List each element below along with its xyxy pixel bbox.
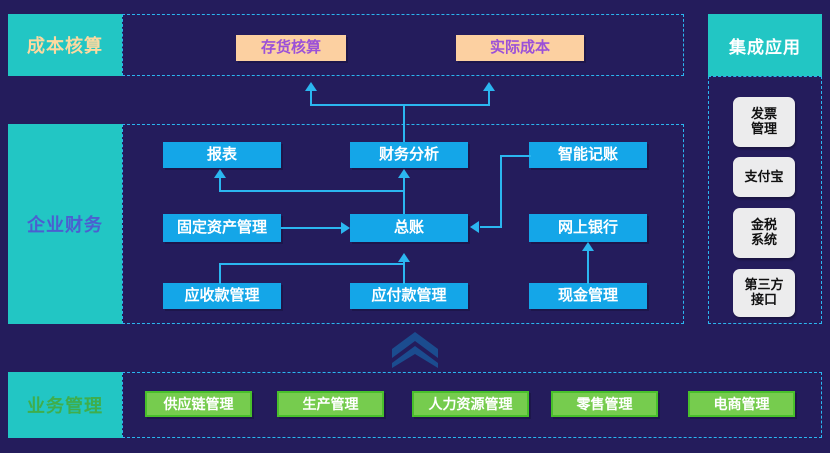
connector-smart-bookkeeping-to-ledger	[480, 226, 502, 228]
arrow-up-payable-to-general-ledger	[398, 253, 410, 262]
box-actual-cost-label: 实际成本	[490, 39, 550, 56]
band-label-integrated-apps-text: 集成应用	[729, 33, 801, 58]
box-inventory-accounting-label: 存货核算	[261, 39, 321, 56]
band-label-business-management-text: 业务管理	[27, 392, 103, 418]
box-accounts-receivable-label: 应收款管理	[184, 287, 259, 304]
connector-receivable-riser	[219, 264, 221, 284]
box-general-ledger[interactable]: 总账	[350, 214, 468, 242]
box-supply-chain-management[interactable]: 供应链管理	[145, 391, 252, 417]
box-inventory-accounting[interactable]: 存货核算	[236, 35, 346, 61]
band-label-integrated-apps: 集成应用	[708, 14, 822, 76]
box-cash-management-label: 现金管理	[558, 287, 618, 304]
box-supply-chain-management-label: 供应链管理	[164, 396, 234, 412]
app-button-third-party-interface-line1: 第三方	[744, 278, 783, 293]
band-label-cost-accounting: 成本核算	[8, 14, 122, 76]
band-label-business-management: 业务管理	[8, 372, 122, 438]
box-retail-management-label: 零售管理	[577, 396, 633, 412]
connector-receivable-bar	[219, 263, 405, 265]
connector-smart-bookkeeping-bar	[500, 155, 531, 157]
connector-smart-bookkeeping-drop	[500, 155, 502, 228]
arrow-right-to-general-ledger	[341, 222, 350, 234]
connector-ledger-to-analysis-stem	[403, 190, 405, 214]
box-reports-label: 报表	[207, 146, 237, 163]
box-ecommerce-management[interactable]: 电商管理	[688, 391, 795, 417]
arrow-up-to-inventory-accounting	[305, 82, 317, 91]
app-button-golden-tax-system-line1: 金税	[751, 218, 777, 233]
app-button-third-party-interface-line2: 接口	[751, 293, 777, 308]
connector-to-inventory-riser	[310, 90, 312, 106]
app-button-invoice-management-line1: 发票	[751, 107, 777, 122]
app-button-third-party-interface[interactable]: 第三方 接口	[733, 269, 795, 317]
box-retail-management[interactable]: 零售管理	[551, 391, 658, 417]
box-accounts-payable[interactable]: 应付款管理	[350, 283, 468, 309]
box-online-banking-label: 网上银行	[558, 219, 618, 236]
connector-ledger-to-reports-bar	[219, 190, 405, 192]
connector-analysis-bar	[311, 104, 490, 106]
box-production-management[interactable]: 生产管理	[277, 391, 384, 417]
band-label-cost-accounting-text: 成本核算	[27, 32, 103, 58]
panel-cost-accounting	[122, 14, 684, 76]
box-accounts-payable-label: 应付款管理	[371, 287, 446, 304]
box-accounts-receivable[interactable]: 应收款管理	[163, 283, 281, 309]
arrow-left-to-general-ledger	[470, 221, 479, 233]
app-button-invoice-management-line2: 管理	[751, 122, 777, 137]
chevron-up-icon	[392, 332, 438, 368]
arrow-up-to-reports	[214, 169, 226, 178]
connector-to-reports-riser	[219, 178, 221, 192]
band-label-enterprise-finance-text: 企业财务	[27, 211, 103, 237]
box-production-management-label: 生产管理	[303, 396, 359, 412]
box-online-banking[interactable]: 网上银行	[529, 214, 647, 242]
box-financial-analysis-label: 财务分析	[379, 146, 439, 163]
connector-payable-to-ledger	[403, 262, 405, 284]
app-button-golden-tax-system[interactable]: 金税 系统	[733, 208, 795, 258]
connector-fixed-asset-to-ledger	[281, 227, 343, 229]
arrow-up-to-financial-analysis	[398, 169, 410, 178]
box-general-ledger-label: 总账	[394, 219, 424, 236]
app-button-alipay-label: 支付宝	[744, 170, 783, 185]
connector-cash-to-online-banking	[587, 262, 589, 284]
app-button-invoice-management[interactable]: 发票 管理	[733, 97, 795, 147]
box-ecommerce-management-label: 电商管理	[714, 396, 770, 412]
box-cash-management[interactable]: 现金管理	[529, 283, 647, 309]
box-smart-bookkeeping-label: 智能记账	[558, 146, 618, 163]
connector-cash-joint	[587, 250, 589, 264]
box-reports[interactable]: 报表	[163, 142, 281, 168]
arrow-up-to-actual-cost	[483, 82, 495, 91]
box-hr-management[interactable]: 人力资源管理	[412, 391, 529, 417]
box-fixed-asset-management[interactable]: 固定资产管理	[163, 214, 281, 242]
connector-to-actual-cost-riser	[488, 90, 490, 106]
app-button-alipay[interactable]: 支付宝	[733, 157, 795, 197]
box-hr-management-label: 人力资源管理	[429, 396, 513, 412]
app-button-golden-tax-system-line2: 系统	[751, 233, 777, 248]
band-label-enterprise-finance: 企业财务	[8, 124, 122, 324]
architecture-diagram: 成本核算 存货核算 实际成本 企业财务 报表 财务分析 智能记账 固定资产管理 …	[0, 0, 830, 453]
box-financial-analysis[interactable]: 财务分析	[350, 142, 468, 168]
box-smart-bookkeeping[interactable]: 智能记账	[529, 142, 647, 168]
box-actual-cost[interactable]: 实际成本	[456, 35, 584, 61]
box-fixed-asset-management-label: 固定资产管理	[177, 219, 267, 236]
